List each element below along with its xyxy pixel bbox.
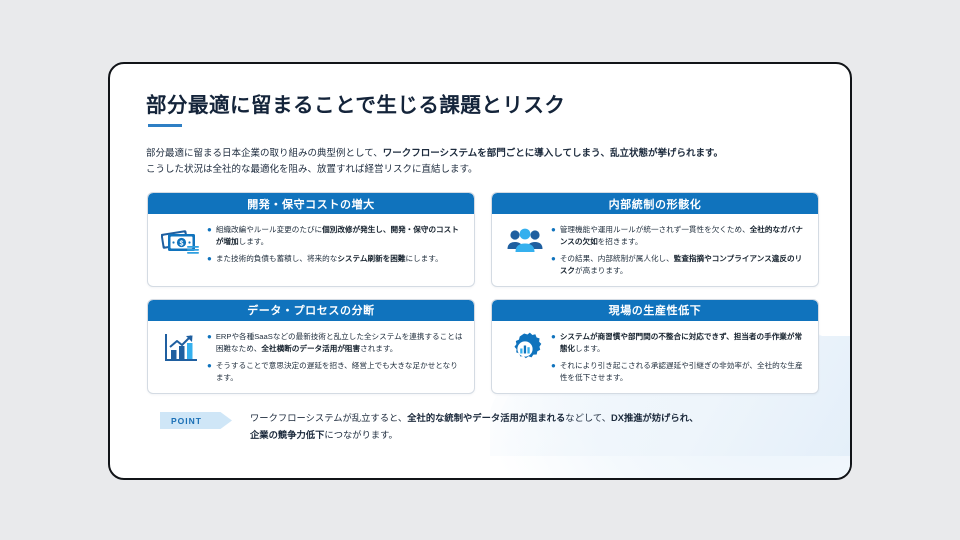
card-body: ● システムが商習慣や部門間の不整合に対応できず、担当者の手作業が常態化します。… <box>492 321 818 393</box>
bar-chart-growth-icon <box>155 330 207 364</box>
title-underline-rule <box>148 124 182 127</box>
bullet-text: また技術的負債も蓄積し、将来的なシステム刷新を困難にします。 <box>216 253 443 265</box>
list-item: ● その結果、内部統制が属人化し、監査指摘やコンプライアンス違反のリスクが高まり… <box>551 253 809 277</box>
risk-card-grid: 開発・保守コストの増大 $ <box>147 192 819 406</box>
card-bullet-list: ● ERPや各種SaaSなどの最新技術と乱立した全システムを連携することは困難な… <box>207 330 465 384</box>
list-item: ● そうすることで意思決定の遅延を招き、経営上でも大きな足かせとなります。 <box>207 360 465 384</box>
card-heading: 現場の生産性低下 <box>492 300 818 321</box>
card-heading: 開発・保守コストの増大 <box>148 193 474 214</box>
list-item: ● それにより引き起こされる承認遅延や引継ぎの非効率が、全社的な生産性を低下させ… <box>551 360 809 384</box>
card-data-process-fragmentation: データ・プロセスの分断 <box>147 299 475 394</box>
bullet-dot-icon: ● <box>207 360 212 384</box>
bullet-text: それにより引き起こされる承認遅延や引継ぎの非効率が、全社的な生産性を低下させます… <box>560 360 809 384</box>
card-body: ● 管理機能や運用ルールが統一されず一貫性を欠くため、全社的なガバナンスの欠如を… <box>492 214 818 286</box>
bullet-dot-icon: ● <box>207 331 212 355</box>
bullet-text: そうすることで意思決定の遅延を招き、経営上でも大きな足かせとなります。 <box>216 360 465 384</box>
bullet-text: 組織改編やルール変更のたびに個別改修が発生し、開発・保守のコストが増加します。 <box>216 224 465 248</box>
bullet-dot-icon: ● <box>551 253 556 277</box>
lead-paragraph: 部分最適に留まる日本企業の取り組みの典型例として、ワークフローシステムを部門ごと… <box>146 146 826 179</box>
card-bullet-list: ● システムが商習慣や部門間の不整合に対応できず、担当者の手作業が常態化します。… <box>551 330 809 384</box>
bullet-dot-icon: ● <box>207 253 212 265</box>
card-bullet-list: ● 管理機能や運用ルールが統一されず一貫性を欠くため、全社的なガバナンスの欠如を… <box>551 223 809 277</box>
point-text: ワークフローシステムが乱立すると、全社的な統制やデータ活用が阻まれるなどして、D… <box>250 410 810 443</box>
banknotes-icon: $ <box>155 223 207 259</box>
list-item: ● また技術的負債も蓄積し、将来的なシステム刷新を困難にします。 <box>207 253 465 265</box>
slide-footer: intra-mart Copyright © NTT DATA INTRAMAR… <box>110 62 850 64</box>
bullet-text: システムが商習慣や部門間の不整合に対応できず、担当者の手作業が常態化します。 <box>560 331 809 355</box>
people-group-icon <box>499 223 551 257</box>
card-heading: 内部統制の形骸化 <box>492 193 818 214</box>
svg-text:$: $ <box>180 241 184 248</box>
list-item: ● 組織改編やルール変更のたびに個別改修が発生し、開発・保守のコストが増加します… <box>207 224 465 248</box>
card-body: ● ERPや各種SaaSなどの最新技術と乱立した全システムを連携することは困難な… <box>148 321 474 393</box>
list-item: ● 管理機能や運用ルールが統一されず一貫性を欠くため、全社的なガバナンスの欠如を… <box>551 224 809 248</box>
card-row-bottom: データ・プロセスの分断 <box>147 299 819 394</box>
bullet-text: その結果、内部統制が属人化し、監査指摘やコンプライアンス違反のリスクが高まります… <box>560 253 809 277</box>
card-onsite-productivity-decline: 現場の生産性低下 <box>491 299 819 394</box>
bullet-text: ERPや各種SaaSなどの最新技術と乱立した全システムを連携することは困難なため… <box>216 331 465 355</box>
point-callout: POINT ワークフローシステムが乱立すると、全社的な統制やデータ活用が阻まれる… <box>160 410 810 443</box>
bullet-dot-icon: ● <box>551 224 556 248</box>
point-badge: POINT <box>160 412 232 429</box>
card-dev-maintenance-cost: 開発・保守コストの増大 $ <box>147 192 475 287</box>
card-body: $ ● 組織改編やルール変更のたびに個別改修が発生し、 <box>148 214 474 280</box>
lead-line1-plain: 部分最適に留まる日本企業の取り組みの典型例として、 <box>146 148 383 159</box>
list-item: ● システムが商習慣や部門間の不整合に対応できず、担当者の手作業が常態化します。 <box>551 331 809 355</box>
card-heading: データ・プロセスの分断 <box>148 300 474 321</box>
bullet-dot-icon: ● <box>551 331 556 355</box>
bullet-dot-icon: ● <box>551 360 556 384</box>
bullet-text: 管理機能や運用ルールが統一されず一貫性を欠くため、全社的なガバナンスの欠如を招き… <box>560 224 809 248</box>
card-row-top: 開発・保守コストの増大 $ <box>147 192 819 287</box>
slide-canvas: 部分最適に留まることで生じる課題とリスク 部分最適に留まる日本企業の取り組みの典… <box>108 62 852 480</box>
list-item: ● ERPや各種SaaSなどの最新技術と乱立した全システムを連携することは困難な… <box>207 331 465 355</box>
card-internal-control-hollowing: 内部統制の形骸化 <box>491 192 819 287</box>
lead-line1-bold: ワークフローシステムを部門ごとに導入してしまう、乱立状態が挙げられます。 <box>383 148 723 159</box>
lead-line2: こうした状況は全社的な最適化を阻み、放置すれば経営リスクに直結します。 <box>146 164 478 175</box>
card-bullet-list: ● 組織改編やルール変更のたびに個別改修が発生し、開発・保守のコストが増加します… <box>207 223 465 265</box>
gear-chart-icon <box>499 330 551 366</box>
bullet-dot-icon: ● <box>207 224 212 248</box>
page-title: 部分最適に留まることで生じる課題とリスク <box>146 88 565 118</box>
